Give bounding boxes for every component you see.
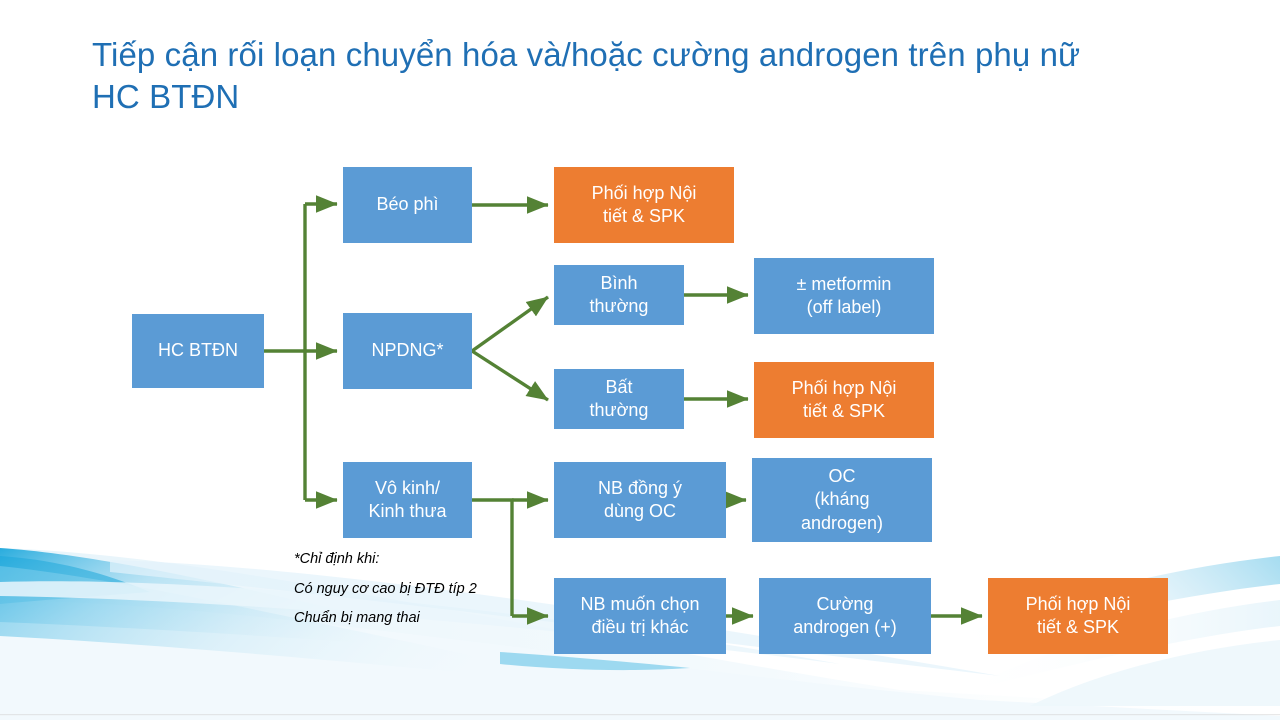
node-beo-phi[interactable]: Béo phì (343, 167, 472, 243)
node-phoi-hop-2[interactable]: Phối hợp Nội tiết & SPK (754, 362, 934, 438)
node-phoi-hop-1[interactable]: Phối hợp Nội tiết & SPK (554, 167, 734, 243)
node-oc-khang-androgen[interactable]: OC (kháng androgen) (752, 458, 932, 542)
node-cuong-androgen[interactable]: Cường androgen (+) (759, 578, 931, 654)
node-vo-kinh[interactable]: Vô kinh/ Kinh thưa (343, 462, 472, 538)
node-npdng[interactable]: NPDNG* (343, 313, 472, 389)
node-nb-dong-y[interactable]: NB đồng ý dùng OC (554, 462, 726, 538)
footnote-line-3: Chuẩn bị mang thai (294, 611, 554, 626)
footnote-block: *Chỉ định khi: Có nguy cơ cao bị ĐTĐ típ… (294, 552, 554, 641)
node-hc-btdn[interactable]: HC BTĐN (132, 314, 264, 388)
footnote-line-1: *Chỉ định khi: (294, 552, 554, 567)
slide-canvas: Tiếp cận rối loạn chuyển hóa và/hoặc cườ… (0, 0, 1280, 720)
node-phoi-hop-3[interactable]: Phối hợp Nội tiết & SPK (988, 578, 1168, 654)
edge-npdng-batthuong (472, 351, 548, 400)
edge-npdng-binhthuong (472, 297, 548, 351)
title-line-2: HC BTĐN (92, 76, 1202, 118)
node-binh-thuong[interactable]: Bình thường (554, 265, 684, 325)
node-metformin[interactable]: ± metformin (off label) (754, 258, 934, 334)
node-nb-muon-chon[interactable]: NB muốn chọn điều trị khác (554, 578, 726, 654)
title-line-1: Tiếp cận rối loạn chuyển hóa và/hoặc cườ… (92, 34, 1202, 76)
slide-title: Tiếp cận rối loạn chuyển hóa và/hoặc cườ… (92, 34, 1202, 118)
node-bat-thuong[interactable]: Bất thường (554, 369, 684, 429)
footnote-line-2: Có nguy cơ cao bị ĐTĐ típ 2 (294, 582, 554, 597)
